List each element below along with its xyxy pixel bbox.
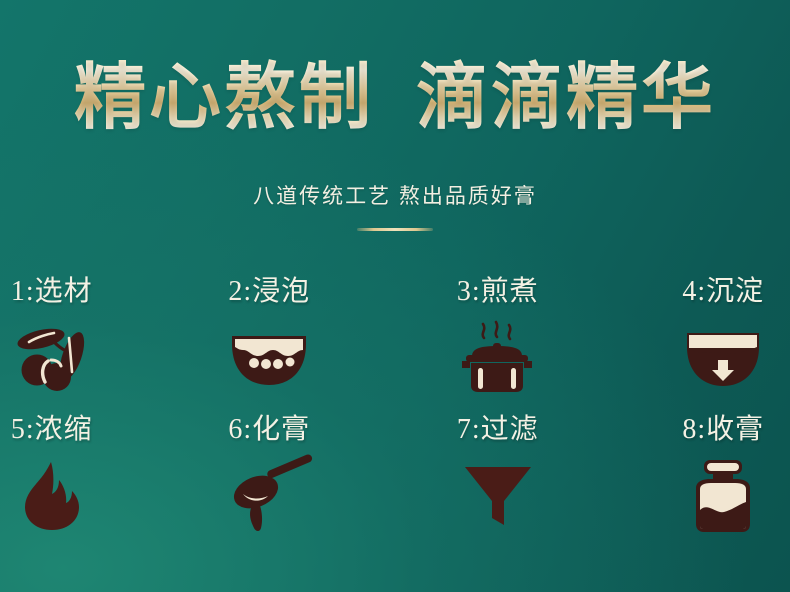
steaming-pot-icon: [452, 318, 544, 398]
step-item-1: 1:选材: [0, 276, 198, 414]
step-item-4: 4:沉淀: [593, 276, 790, 414]
step-item-2: 2:浸泡: [198, 276, 396, 414]
jar-icon: [677, 456, 769, 536]
promo-poster: 精心熬制 滴滴精华 八道传统工艺 熬出品质好膏 1:选材: [0, 0, 790, 592]
title-container: 精心熬制 滴滴精华: [0, 57, 790, 139]
sediment-bowl-icon: [677, 318, 769, 398]
olive-branch-icon: [6, 318, 98, 398]
step-label-2: 2:浸泡: [228, 276, 310, 308]
step-label-6: 6:化膏: [228, 414, 310, 446]
step-label-8: 8:收膏: [682, 414, 764, 446]
funnel-icon: [452, 456, 544, 536]
step-item-6: 6:化膏: [198, 414, 396, 552]
gold-divider: [357, 228, 433, 231]
step-label-3: 3:煎煮: [457, 276, 539, 308]
page-title: 精心熬制 滴滴精华: [74, 57, 716, 139]
dripping-ladle-icon: [223, 456, 315, 536]
step-item-3: 3:煎煮: [395, 276, 593, 414]
step-label-4: 4:沉淀: [682, 276, 764, 308]
step-item-7: 7:过滤: [395, 414, 593, 552]
subtitle: 八道传统工艺 熬出品质好膏: [0, 180, 790, 210]
step-label-5: 5:浓缩: [11, 414, 93, 446]
step-label-7: 7:过滤: [457, 414, 539, 446]
step-label-1: 1:选材: [11, 276, 93, 308]
process-steps-grid: 1:选材: [0, 276, 790, 552]
flame-icon: [6, 456, 98, 536]
step-item-5: 5:浓缩: [0, 414, 198, 552]
step-item-8: 8:收膏: [593, 414, 790, 552]
soaking-bowl-icon: [223, 318, 315, 398]
